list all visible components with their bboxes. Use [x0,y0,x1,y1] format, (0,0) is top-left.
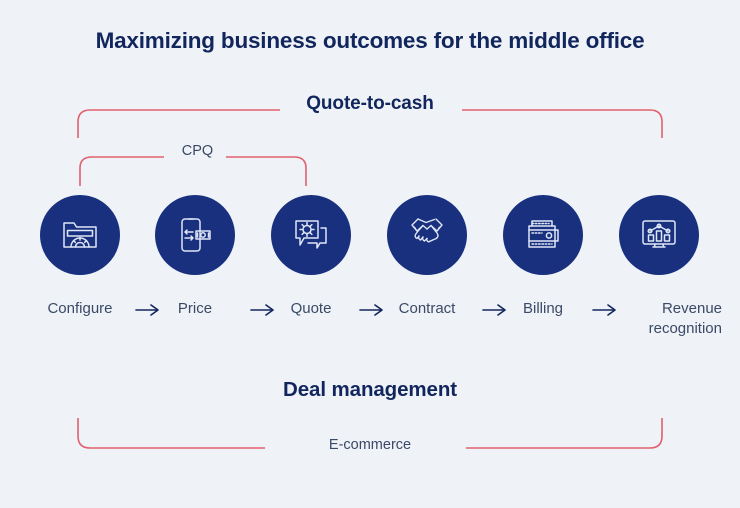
mobile-money-icon [174,214,216,256]
folder-gear-icon [59,214,101,256]
node-circle-price[interactable] [155,195,235,275]
node-circle-quote[interactable] [271,195,351,275]
step-label-configure: Configure [26,299,134,319]
bracket-label-quote-to-cash: Quote-to-cash [0,93,740,115]
page-title: Maximizing business outcomes for the mid… [0,28,740,54]
section-title-deal-management: Deal management [0,378,740,402]
diagram-canvas: Maximizing business outcomes for the mid… [0,0,740,508]
cpq-bracket-right [226,157,306,186]
step-label-revenue-recognition: Revenue recognition [618,299,722,339]
step-label-contract: Contract [373,299,481,319]
node-circle-revenue-recognition[interactable] [619,195,699,275]
step-label-price: Price [141,299,249,319]
bracket-label-cpq: CPQ [0,143,395,159]
step-label-quote: Quote [257,299,365,319]
monitor-chart-icon [638,214,680,256]
node-circle-billing[interactable] [503,195,583,275]
node-circle-contract[interactable] [387,195,467,275]
flow-arrow-5 [590,301,620,319]
step-label-billing: Billing [489,299,597,319]
chat-gear-icon [290,214,332,256]
node-circle-configure[interactable] [40,195,120,275]
cpq-bracket-left [80,157,164,186]
handshake-icon [406,214,448,256]
bracket-label-ecommerce: E-commerce [0,437,740,453]
wallet-icon [522,214,564,256]
flow-steps-row: Configure Price Quote Contract Billing [0,299,740,359]
